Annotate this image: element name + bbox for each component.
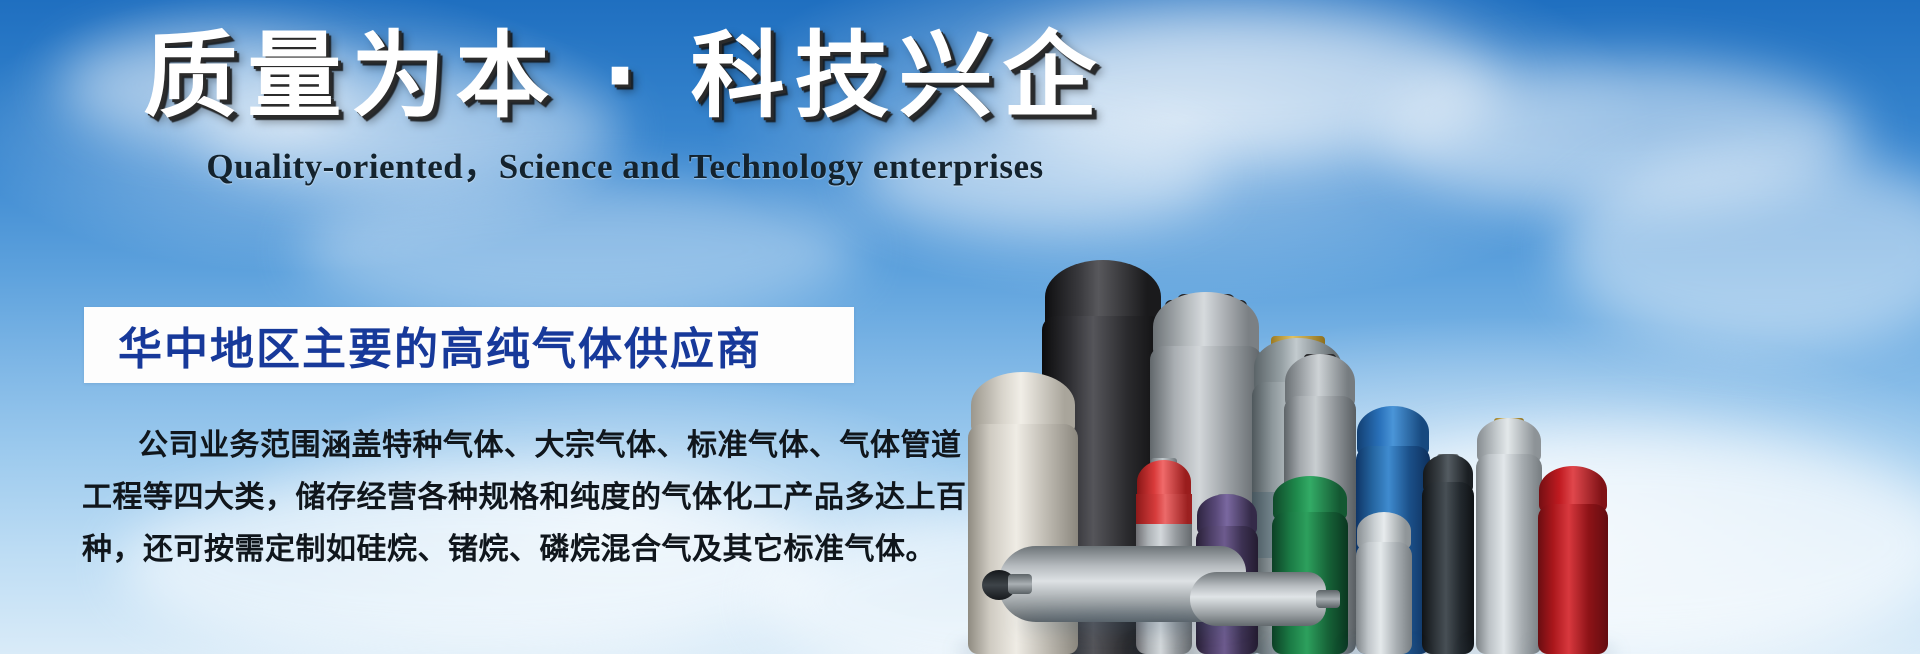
description-line-3: 种，还可按需定制如硅烷、锗烷、磷烷混合气及其它标准气体。 [82, 524, 872, 576]
aluminium-cylinder [1476, 418, 1542, 654]
banner-headline: 质量为本 · 科技兴企 [0, 26, 1250, 128]
lying-grey-cylinder-2 [1190, 568, 1340, 630]
cloud-decoration [300, 180, 860, 320]
hero-banner: 质量为本 · 科技兴企 Quality-oriented，Science and… [0, 0, 1920, 654]
slogan-text: 华中地区主要的高纯气体供应商 [118, 313, 762, 377]
description-line-1: 公司业务范围涵盖特种气体、大宗气体、标准气体、气体管道 [82, 420, 872, 472]
description-line-2: 工程等四大类，储存经营各种规格和纯度的气体化工产品多达上百 [82, 472, 872, 524]
red-aluminium-cylinder [1538, 468, 1608, 654]
gas-cylinder-product-group [960, 120, 1920, 654]
dark-slim-cylinder [1422, 454, 1474, 654]
slogan-box: 华中地区主要的高纯气体供应商 [84, 307, 854, 383]
banner-description: 公司业务范围涵盖特种气体、大宗气体、标准气体、气体管道 工程等四大类，储存经营各… [82, 420, 872, 576]
small-aluminium-cylinder [1356, 514, 1412, 654]
